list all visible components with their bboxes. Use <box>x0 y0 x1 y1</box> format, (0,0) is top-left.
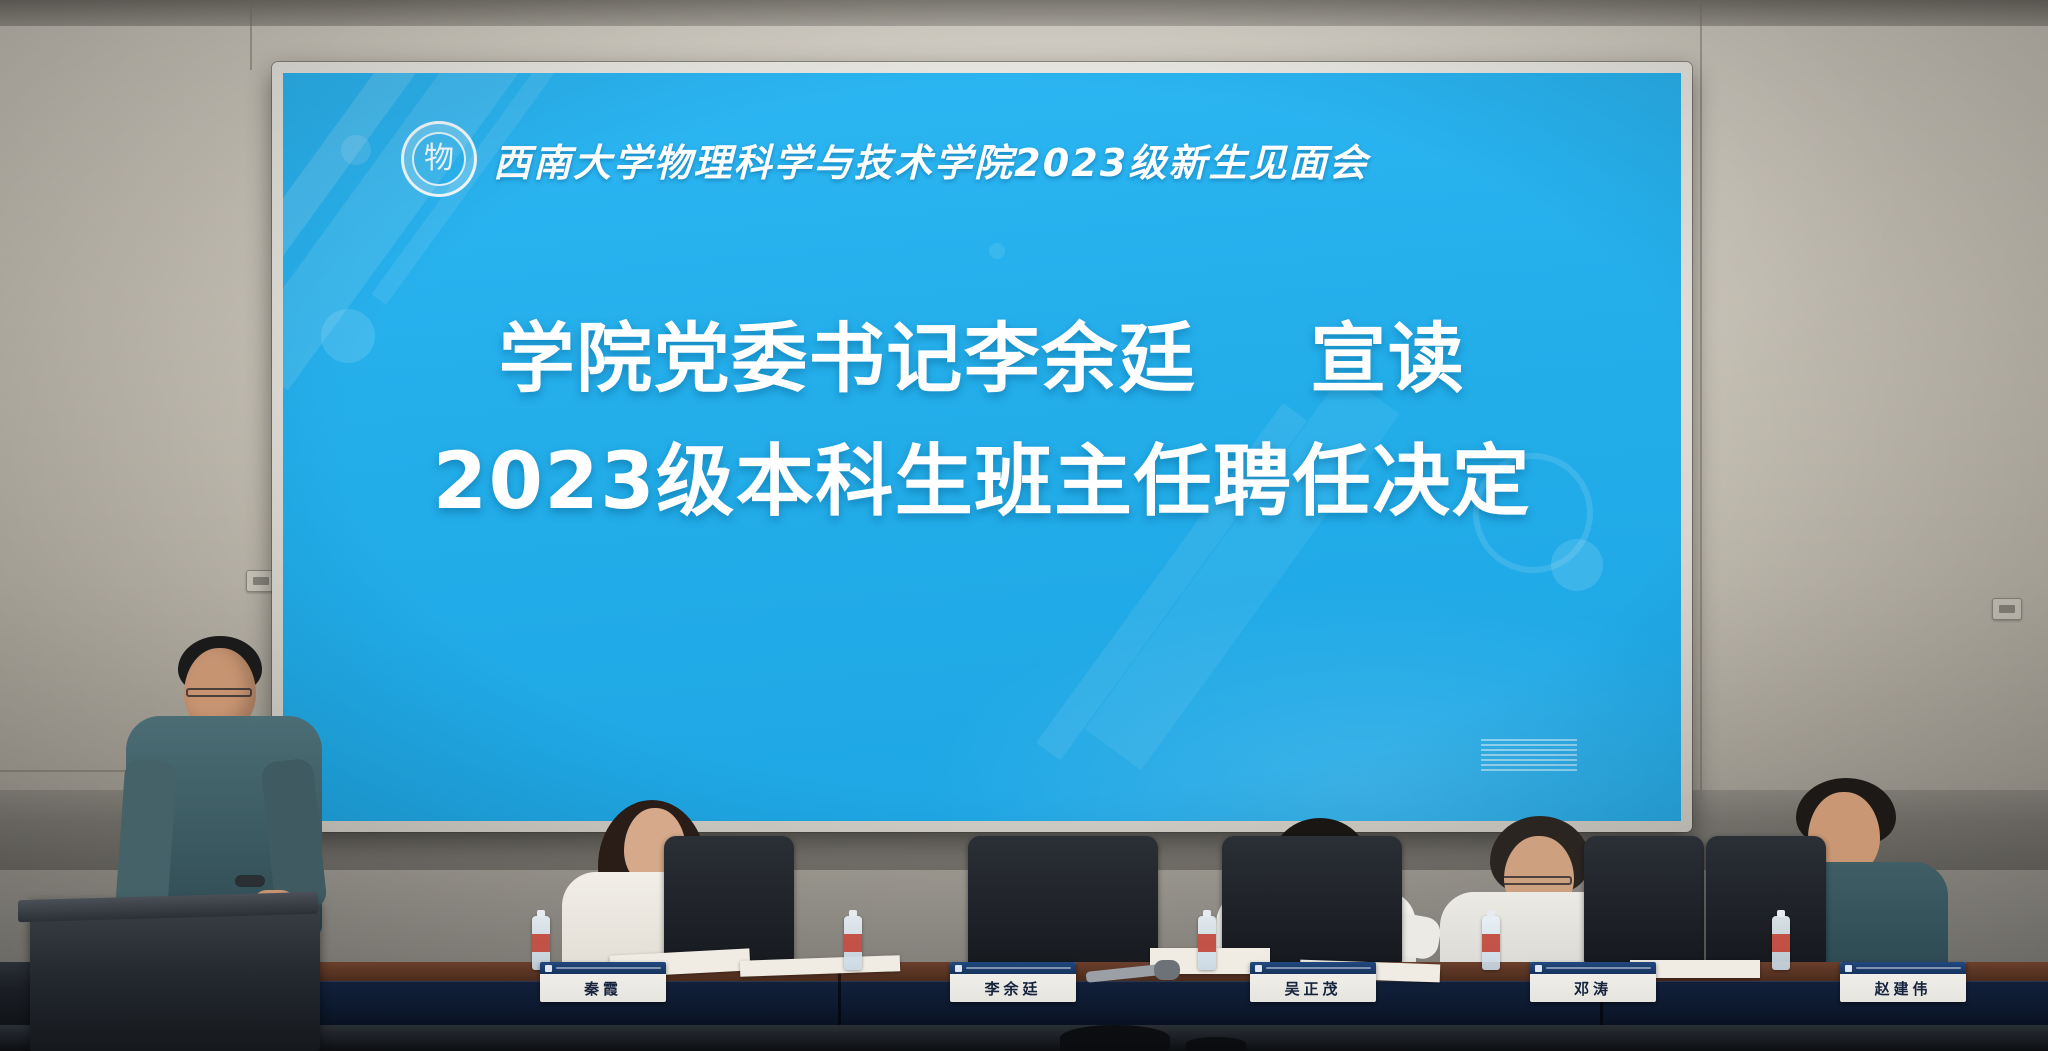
nameplate-logo-icon <box>955 965 962 972</box>
chair <box>1222 836 1402 966</box>
microphone-head-icon <box>1154 960 1180 980</box>
audience-head <box>1060 1025 1170 1051</box>
nameplate-header-bar <box>950 962 1076 974</box>
table-front-panel <box>222 981 2048 1025</box>
chair <box>1584 836 1704 966</box>
nameplate-logo-icon <box>1535 965 1542 972</box>
nameplate-3: 吴正茂 <box>1250 962 1376 1002</box>
water-bottle <box>1198 916 1216 970</box>
nameplate-name: 赵建伟 <box>1840 974 1966 1002</box>
audience-head <box>1186 1037 1246 1051</box>
water-bottle <box>1482 916 1500 970</box>
chair <box>1706 836 1826 966</box>
chair <box>968 836 1158 976</box>
nameplate-header-bar <box>1840 962 1966 974</box>
nameplate-1: 秦霞 <box>540 962 666 1002</box>
podium-microphone <box>236 876 264 886</box>
glasses-icon <box>186 688 252 697</box>
nameplate-logo-icon <box>1255 965 1262 972</box>
nameplate-name: 秦霞 <box>540 974 666 1002</box>
podium <box>30 905 320 1051</box>
nameplate-logo-icon <box>545 965 552 972</box>
glasses-icon <box>1500 876 1572 885</box>
water-bottle <box>1772 916 1790 970</box>
nameplate-name: 吴正茂 <box>1250 974 1376 1002</box>
nameplate-header-bar <box>1530 962 1656 974</box>
nameplate-4: 邓涛 <box>1530 962 1656 1002</box>
nameplate-header-bar <box>540 962 666 974</box>
nameplate-header-bar <box>1250 962 1376 974</box>
nameplate-5: 赵建伟 <box>1840 962 1966 1002</box>
conference-room-photo: 会议室 科 学 学 物 理 物 <box>0 0 2048 1051</box>
nameplate-name: 李余廷 <box>950 974 1076 1002</box>
nameplate-logo-icon <box>1845 965 1852 972</box>
nameplate-2: 李余廷 <box>950 962 1076 1002</box>
water-bottle <box>844 916 862 970</box>
nameplate-name: 邓涛 <box>1530 974 1656 1002</box>
